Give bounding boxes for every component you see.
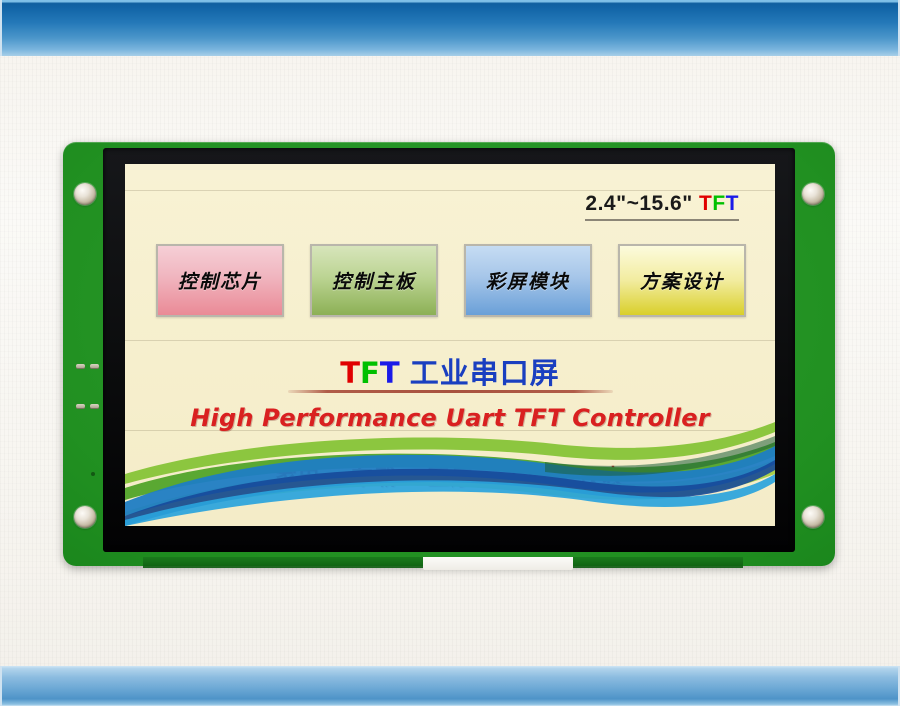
size-range-text: 2.4"~15.6" (585, 192, 692, 215)
headline-tft-letter-t2: T (380, 356, 400, 390)
bottom-blue-bar (0, 666, 900, 706)
headline-chinese-text: 工业串口屏 (410, 356, 560, 390)
screw-top-right (802, 183, 824, 205)
header-tft-letter-f: F (712, 192, 725, 215)
category-button-control-chip[interactable]: 控制芯片 (156, 244, 284, 317)
pcb-bottom-tab (423, 557, 573, 570)
category-button-label: 彩屏模块 (486, 267, 570, 294)
tft-module-pcb: 2.4"~15.6" TFT 控制芯片 控制主板 彩屏模块 (63, 142, 835, 566)
pcb-via-dot (91, 472, 95, 476)
top-blue-bar (0, 0, 900, 56)
solder-pads (76, 364, 102, 414)
screw-bottom-right (802, 506, 824, 528)
solder-pad (76, 404, 85, 409)
headline-tft-letter-f: F (360, 356, 380, 390)
lcd-content: 2.4"~15.6" TFT 控制芯片 控制主板 彩屏模块 (125, 164, 775, 526)
screw-bottom-left (74, 506, 96, 528)
lcd-bezel: 2.4"~15.6" TFT 控制芯片 控制主板 彩屏模块 (103, 148, 795, 552)
category-button-label: 方案设计 (640, 267, 724, 294)
headline: TFT 工业串口屏 (125, 350, 775, 392)
header-tft-letter-t2: T (726, 192, 739, 215)
solder-pad (90, 364, 99, 369)
decorative-swoosh-graphic (125, 416, 775, 526)
solder-pad (76, 364, 85, 369)
divider-top (125, 190, 775, 191)
headline-tft-letter-t1: T (340, 356, 360, 390)
category-button-control-mainboard[interactable]: 控制主板 (310, 244, 438, 317)
product-image-page: 2.4"~15.6" TFT 控制芯片 控制主板 彩屏模块 (0, 0, 900, 706)
lcd-screen: 2.4"~15.6" TFT 控制芯片 控制主板 彩屏模块 (125, 164, 775, 526)
category-button-label: 控制主板 (332, 267, 416, 294)
screw-top-left (74, 183, 96, 205)
divider-middle (125, 340, 775, 341)
solder-pad (90, 404, 99, 409)
category-button-color-screen-module[interactable]: 彩屏模块 (464, 244, 592, 317)
category-button-solution-design[interactable]: 方案设计 (618, 244, 746, 317)
category-button-row: 控制芯片 控制主板 彩屏模块 方案设计 (156, 244, 746, 317)
headline-underline (288, 390, 613, 393)
header-tft-letter-t1: T (699, 192, 712, 215)
category-button-label: 控制芯片 (178, 267, 262, 294)
size-range-header: 2.4"~15.6" TFT (585, 192, 739, 221)
